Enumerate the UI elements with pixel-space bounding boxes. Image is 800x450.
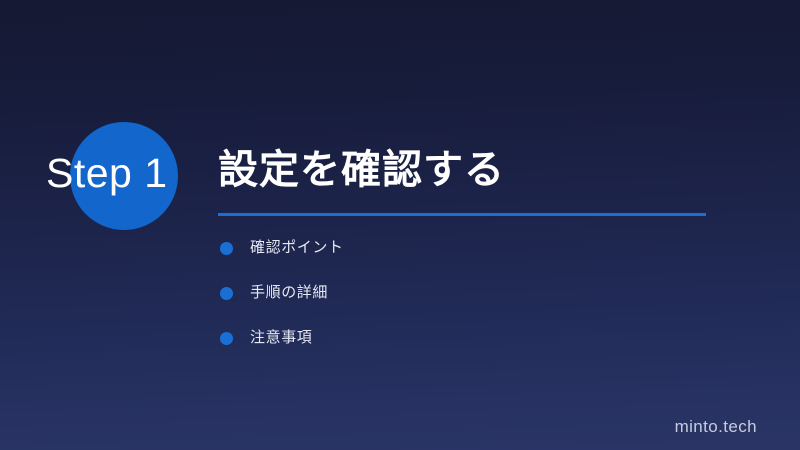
- bullet-dot-icon: [220, 332, 233, 345]
- list-item-label: 注意事項: [250, 326, 312, 350]
- bullet-dot-icon: [220, 242, 233, 255]
- list-item: 注意事項: [218, 326, 678, 371]
- footer-brand-label: minto.tech: [675, 417, 757, 437]
- list-item-label: 手順の詳細: [250, 281, 328, 305]
- list-item: 確認ポイント: [218, 236, 678, 281]
- bullet-list: 確認ポイント 手順の詳細 注意事項: [218, 236, 678, 371]
- presentation-slide: Step 1 設定を確認する 確認ポイント 手順の詳細 注意事項 minto.t…: [0, 0, 800, 450]
- bullet-dot-icon: [220, 287, 233, 300]
- slide-title: 設定を確認する: [218, 148, 505, 192]
- list-item-label: 確認ポイント: [250, 236, 344, 260]
- list-item: 手順の詳細: [218, 281, 678, 326]
- title-divider-rule: [218, 213, 706, 216]
- step-badge-label: Step 1: [46, 153, 168, 194]
